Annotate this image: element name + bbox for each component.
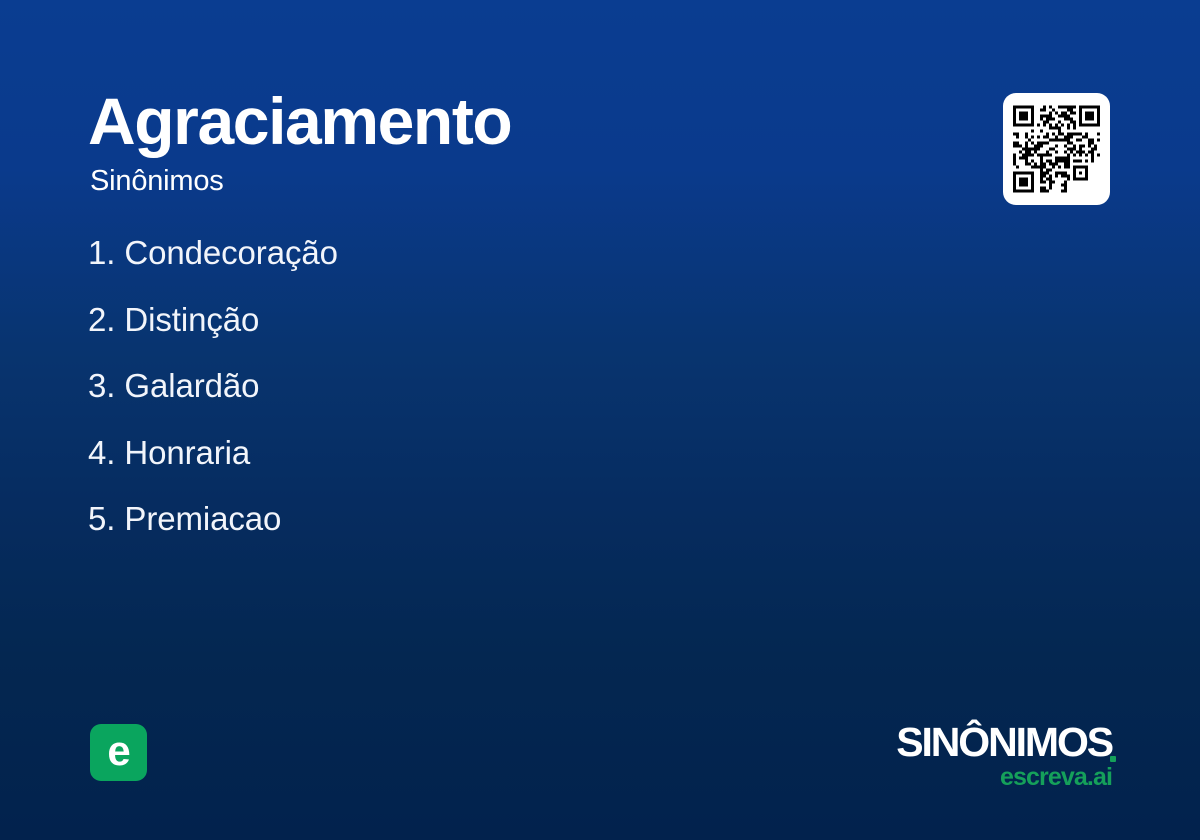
list-item-index: 2.: [88, 301, 115, 338]
list-item-label: Galardão: [124, 367, 259, 404]
brand-accent-dot-icon: [1110, 756, 1116, 762]
list-item-label: Honraria: [124, 434, 250, 471]
list-item-index: 5.: [88, 500, 115, 537]
list-item-index: 4.: [88, 434, 115, 471]
brand-logo: SINÔNIMOS escreva.ai: [896, 722, 1112, 790]
list-item-label: Condecoração: [124, 234, 337, 271]
synonym-card: Agraciamento Sinônimos 1. Condecoração 2…: [0, 0, 1200, 840]
page-title: Agraciamento: [88, 88, 511, 154]
list-item: 5. Premiacao: [88, 502, 848, 569]
list-item-index: 3.: [88, 367, 115, 404]
list-item: 4. Honraria: [88, 436, 848, 503]
qr-code-icon: [1013, 103, 1100, 195]
brand-name-text: SINÔNIMOS: [896, 719, 1112, 765]
qr-code[interactable]: [1003, 93, 1110, 205]
escreva-e-logo-icon[interactable]: e: [90, 724, 147, 781]
brand-tagline: escreva.ai: [896, 765, 1112, 790]
page-subtitle: Sinônimos: [90, 167, 224, 196]
synonym-list: 1. Condecoração 2. Distinção 3. Galardão…: [88, 236, 848, 569]
list-item-label: Premiacao: [124, 500, 281, 537]
list-item: 1. Condecoração: [88, 236, 848, 303]
brand-name: SINÔNIMOS: [896, 722, 1112, 763]
escreva-e-logo-letter: e: [90, 724, 147, 781]
list-item: 2. Distinção: [88, 303, 848, 370]
list-item-index: 1.: [88, 234, 115, 271]
list-item: 3. Galardão: [88, 369, 848, 436]
list-item-label: Distinção: [124, 301, 259, 338]
